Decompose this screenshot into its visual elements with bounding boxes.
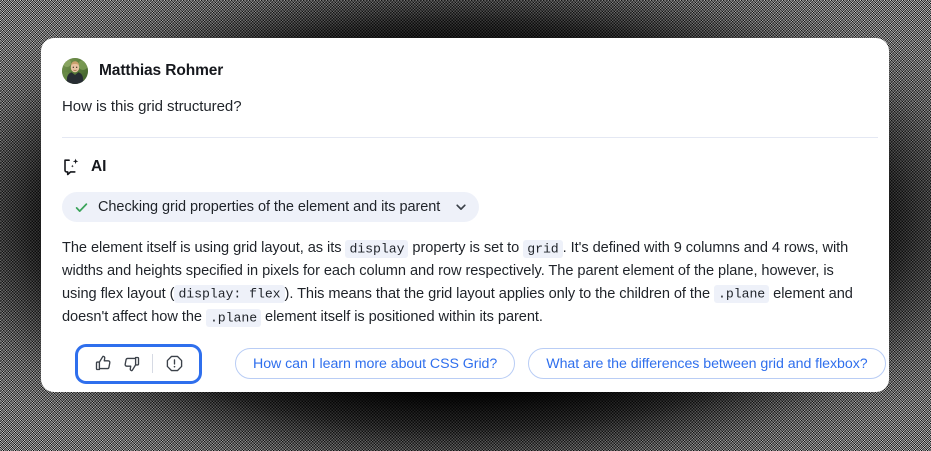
user-name: Matthias Rohmer xyxy=(99,62,223,80)
user-photo-avatar xyxy=(62,58,88,84)
ai-message-block: AI Checking grid properties of the eleme… xyxy=(41,156,889,330)
suggested-prompts: How can I learn more about CSS Grid? Wha… xyxy=(235,348,889,379)
message-divider xyxy=(62,137,878,138)
avatar xyxy=(62,58,88,84)
user-message-header: Matthias Rohmer xyxy=(62,57,867,85)
thumbs-down-icon xyxy=(122,354,141,373)
report-issue-button[interactable] xyxy=(160,350,188,378)
chat-response-card: Matthias Rohmer How is this grid structu… xyxy=(41,38,889,392)
thumbs-down-button[interactable] xyxy=(117,350,145,378)
check-icon xyxy=(74,200,89,215)
status-chip-grid-properties[interactable]: Checking grid properties of the element … xyxy=(62,192,479,222)
thumbs-up-icon xyxy=(94,354,113,373)
user-message-text: How is this grid structured? xyxy=(62,98,867,115)
inline-code: display: flex xyxy=(174,285,284,303)
status-chip-label: Checking grid properties of the element … xyxy=(98,199,440,215)
inline-code: .plane xyxy=(714,285,769,303)
user-message-block: Matthias Rohmer How is this grid structu… xyxy=(41,38,889,115)
suggestion-pill-1[interactable]: How can I learn more about CSS Grid? xyxy=(235,348,515,379)
feedback-divider xyxy=(152,354,153,373)
ai-label: AI xyxy=(91,158,106,176)
thumbs-up-button[interactable] xyxy=(89,350,117,378)
ai-sparkle-bubble-icon xyxy=(62,157,82,177)
suggestion-pill-2[interactable]: What are the differences between grid an… xyxy=(528,348,885,379)
inline-code: grid xyxy=(523,240,562,258)
ai-answer-paragraph: The element itself is using grid layout,… xyxy=(62,237,868,330)
response-actions-bar: How can I learn more about CSS Grid? Wha… xyxy=(41,335,889,392)
inline-code: display xyxy=(345,240,408,258)
ai-message-header: AI xyxy=(62,156,867,178)
inline-code: .plane xyxy=(206,309,261,327)
feedback-button-group[interactable] xyxy=(78,347,199,381)
chevron-down-icon[interactable] xyxy=(454,200,468,214)
alert-octagon-icon xyxy=(165,354,184,373)
